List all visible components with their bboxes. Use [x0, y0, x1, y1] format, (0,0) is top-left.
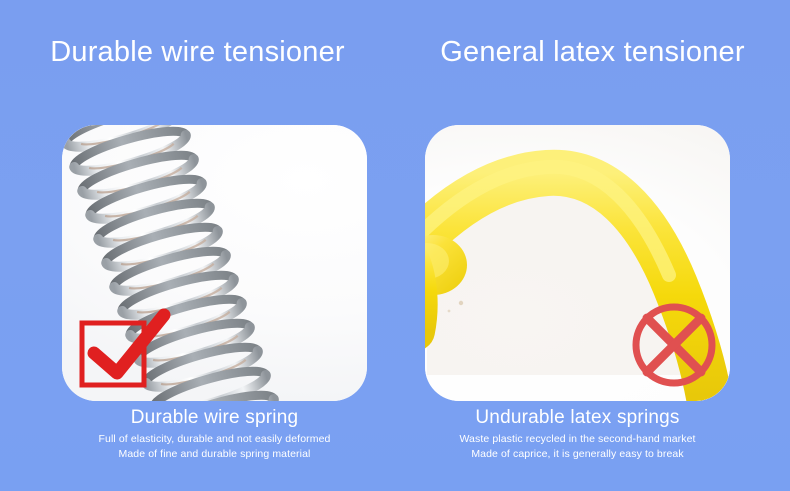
- caption-detail-general-latex-1: Waste plastic recycled in the second-han…: [425, 433, 730, 446]
- comparison-infographic: Durable wire tensioner General latex ten…: [0, 0, 790, 491]
- check-mark-icon: [72, 305, 176, 393]
- caption-title-durable-wire: Durable wire spring: [62, 406, 367, 430]
- caption-detail-durable-wire-1: Full of elasticity, durable and not easi…: [62, 433, 367, 446]
- card-durable-wire-inner: [62, 125, 367, 401]
- card-general-latex: [425, 125, 730, 401]
- caption-detail-general-latex-2: Made of caprice, it is generally easy to…: [425, 448, 730, 461]
- caption-general-latex: Undurable latex springs Waste plastic re…: [425, 406, 730, 461]
- card-general-latex-inner: [425, 125, 730, 401]
- card-durable-wire: [62, 125, 367, 401]
- caption-durable-wire: Durable wire spring Full of elasticity, …: [62, 406, 367, 461]
- cross-circle-icon: [624, 299, 724, 391]
- caption-title-general-latex: Undurable latex springs: [425, 406, 730, 430]
- caption-detail-durable-wire-2: Made of fine and durable spring material: [62, 448, 367, 461]
- heading-general-latex: General latex tensioner: [395, 36, 790, 69]
- heading-durable-wire: Durable wire tensioner: [0, 36, 395, 69]
